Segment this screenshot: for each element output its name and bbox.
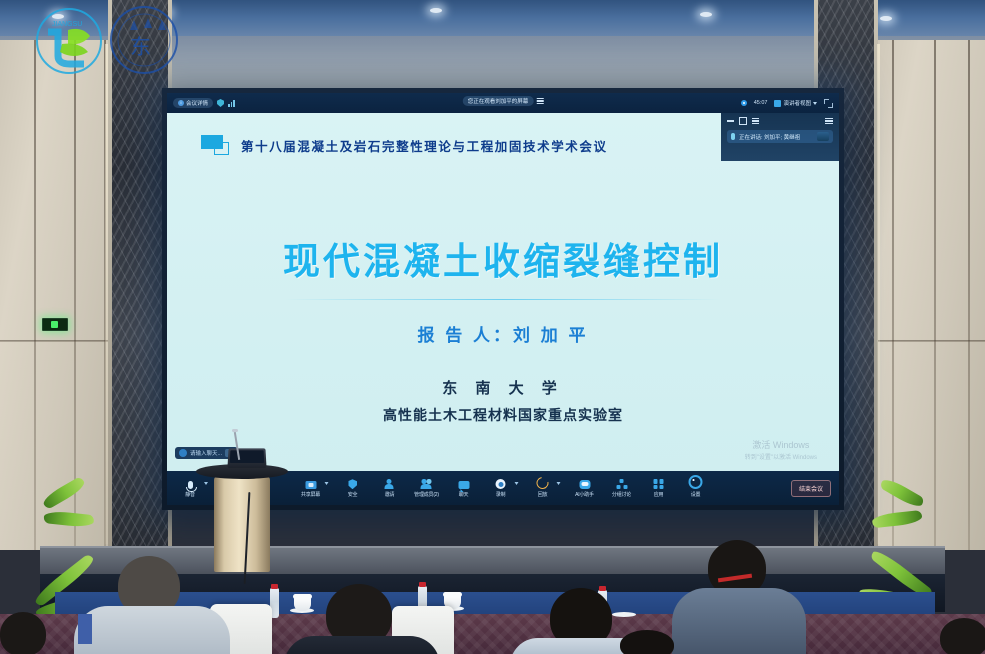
list-icon[interactable]: [752, 118, 759, 124]
toolbar-label: 回放: [538, 491, 548, 498]
slide-presenter: 报 告 人：刘 加 平: [167, 321, 839, 346]
toolbar-label: 管理成员(2): [414, 491, 439, 498]
shared-slide: 第十八届混凝土及岩石完整性理论与工程加固技术学术会议 现代混凝土收缩裂缝控制 报…: [167, 113, 839, 505]
view-icon: [774, 100, 781, 107]
raise-hand-icon: [385, 479, 395, 489]
meeting-timer: 45:07: [754, 100, 768, 106]
info-icon: i: [178, 100, 184, 106]
window-icon[interactable]: [739, 117, 747, 125]
toolbar-label: 邀请: [385, 491, 395, 498]
left-wall-panels: [0, 40, 120, 550]
exit-sign: [42, 318, 68, 331]
replay-icon: [534, 475, 551, 492]
meeting-topbar: i 会议详情 您正在观看刘加平的屏幕 45:07: [167, 93, 839, 113]
toolbar-label: 聊天: [459, 491, 469, 498]
mic-icon: [188, 481, 193, 489]
collapse-icon[interactable]: [825, 118, 833, 124]
speaking-label: 正在讲话: 刘加平; 黄继祖: [739, 133, 800, 141]
activation-line1: 激活 Windows: [745, 438, 817, 451]
toolbar-label: 应用: [654, 491, 664, 498]
network-icon[interactable]: [228, 100, 235, 107]
security-icon[interactable]: [217, 99, 224, 107]
shield-icon: [348, 479, 357, 489]
saucer: [612, 612, 636, 617]
meeting-info-label: 会议详情: [186, 99, 208, 107]
toolbar-breakout-rooms[interactable]: 分组讨论: [609, 478, 635, 498]
apps-icon: [654, 479, 664, 489]
toolbar-record[interactable]: 录制: [488, 478, 519, 498]
slide-laboratory: 高性能土木工程材料国家重点实验室: [167, 405, 839, 425]
toolbar-label: 分组讨论: [612, 491, 631, 498]
speaking-indicator: 正在讲话: 刘加平; 黄继祖: [727, 130, 833, 143]
toolbar-invite[interactable]: 邀请: [377, 478, 403, 498]
breakout-room-icon: [616, 479, 627, 489]
activation-line2: 转到"设置"以激活 Windows: [745, 452, 817, 461]
toolbar-chat[interactable]: 聊天: [451, 478, 477, 498]
slide-title: 现代混凝土收缩裂缝控制: [167, 231, 839, 285]
chevron-up-icon[interactable]: [557, 482, 561, 485]
wall-light-strip: [877, 44, 880, 544]
avatar: [179, 449, 187, 457]
room-background: i 会议详情 您正在观看刘加平的屏幕 45:07: [0, 0, 985, 654]
toolbar-apps[interactable]: 应用: [646, 478, 672, 498]
chevron-up-icon[interactable]: [204, 482, 208, 485]
lanyard: [78, 614, 92, 644]
toolbar-label: 共享屏幕: [301, 491, 320, 498]
chat-message: 请输入聊天...: [190, 449, 222, 457]
chevron-down-icon: [813, 102, 817, 105]
toolbar-label: 设置: [691, 491, 701, 498]
svg-text:东: 东: [130, 35, 151, 59]
windows-activation-watermark: 激活 Windows 转到"设置"以激活 Windows: [745, 438, 817, 461]
svg-text:JIANGSU: JIANGSU: [52, 21, 82, 28]
sharing-status-label: 您正在观看刘加平的屏幕: [463, 96, 534, 106]
view-selector[interactable]: 演讲者视图: [774, 99, 817, 107]
view-selector-label: 演讲者视图: [783, 99, 811, 107]
chat-icon: [458, 481, 469, 489]
teacup: [294, 597, 311, 611]
logo-right: 东: [100, 2, 188, 78]
mic-icon: [731, 133, 735, 140]
ceiling-light: [700, 12, 712, 17]
toolbar-label: 录制: [496, 491, 506, 498]
toolbar-settings[interactable]: 设置: [683, 478, 709, 498]
toolbar-mute[interactable]: 静音: [177, 478, 208, 498]
ai-assistant-icon: [579, 480, 590, 489]
record-icon[interactable]: [741, 100, 747, 106]
gear-icon: [689, 475, 703, 489]
toolbar-participants[interactable]: 管理成员(2): [414, 478, 440, 498]
end-meeting-button[interactable]: 结束会议: [791, 480, 831, 497]
toolbar-security[interactable]: 安全: [340, 478, 366, 498]
expand-icon[interactable]: [824, 99, 833, 108]
conference-banner: 第十八届混凝土及岩石完整性理论与工程加固技术学术会议: [201, 135, 608, 155]
marble-column-left: [112, 0, 168, 560]
share-screen-icon: [305, 481, 316, 489]
wall-light-strip: [105, 44, 108, 544]
chevron-up-icon[interactable]: [515, 482, 519, 485]
presentation-screen: i 会议详情 您正在观看刘加平的屏幕 45:07: [162, 88, 844, 510]
record-icon: [496, 479, 506, 489]
people-icon: [421, 479, 433, 489]
participant-video-thumb[interactable]: [817, 132, 829, 141]
minimize-icon[interactable]: [727, 120, 734, 122]
meeting-info-button[interactable]: i 会议详情: [173, 98, 213, 108]
speaker-side-panel: 正在讲话: 刘加平; 黄继祖: [721, 113, 839, 161]
toolbar-ai-assistant[interactable]: AI小助手: [572, 478, 598, 498]
right-wall-panels: [868, 40, 985, 550]
conference-hall-photo: i 会议详情 您正在观看刘加平的屏幕 45:07: [0, 0, 985, 654]
laptop: [227, 448, 266, 468]
title-divider: [285, 299, 721, 300]
chevron-up-icon[interactable]: [325, 482, 329, 485]
meeting-app-window: i 会议详情 您正在观看刘加平的屏幕 45:07: [167, 93, 839, 505]
slide-organization: 东 南 大 学: [167, 377, 839, 398]
ceiling-light: [880, 16, 892, 21]
podium: [214, 476, 270, 572]
sharing-status-banner[interactable]: 您正在观看刘加平的屏幕: [463, 96, 544, 106]
conference-banner-text: 第十八届混凝土及岩石完整性理论与工程加固技术学术会议: [241, 136, 608, 155]
microphone: [232, 429, 238, 432]
ceiling-light: [430, 8, 442, 13]
banner-mark-icon: [201, 135, 231, 155]
toolbar-label: 安全: [348, 491, 358, 498]
more-icon[interactable]: [536, 98, 543, 104]
toolbar-label: AI小助手: [575, 491, 594, 498]
toolbar-share-screen[interactable]: 共享屏幕: [298, 478, 329, 498]
toolbar-replay[interactable]: 回放: [530, 478, 561, 498]
